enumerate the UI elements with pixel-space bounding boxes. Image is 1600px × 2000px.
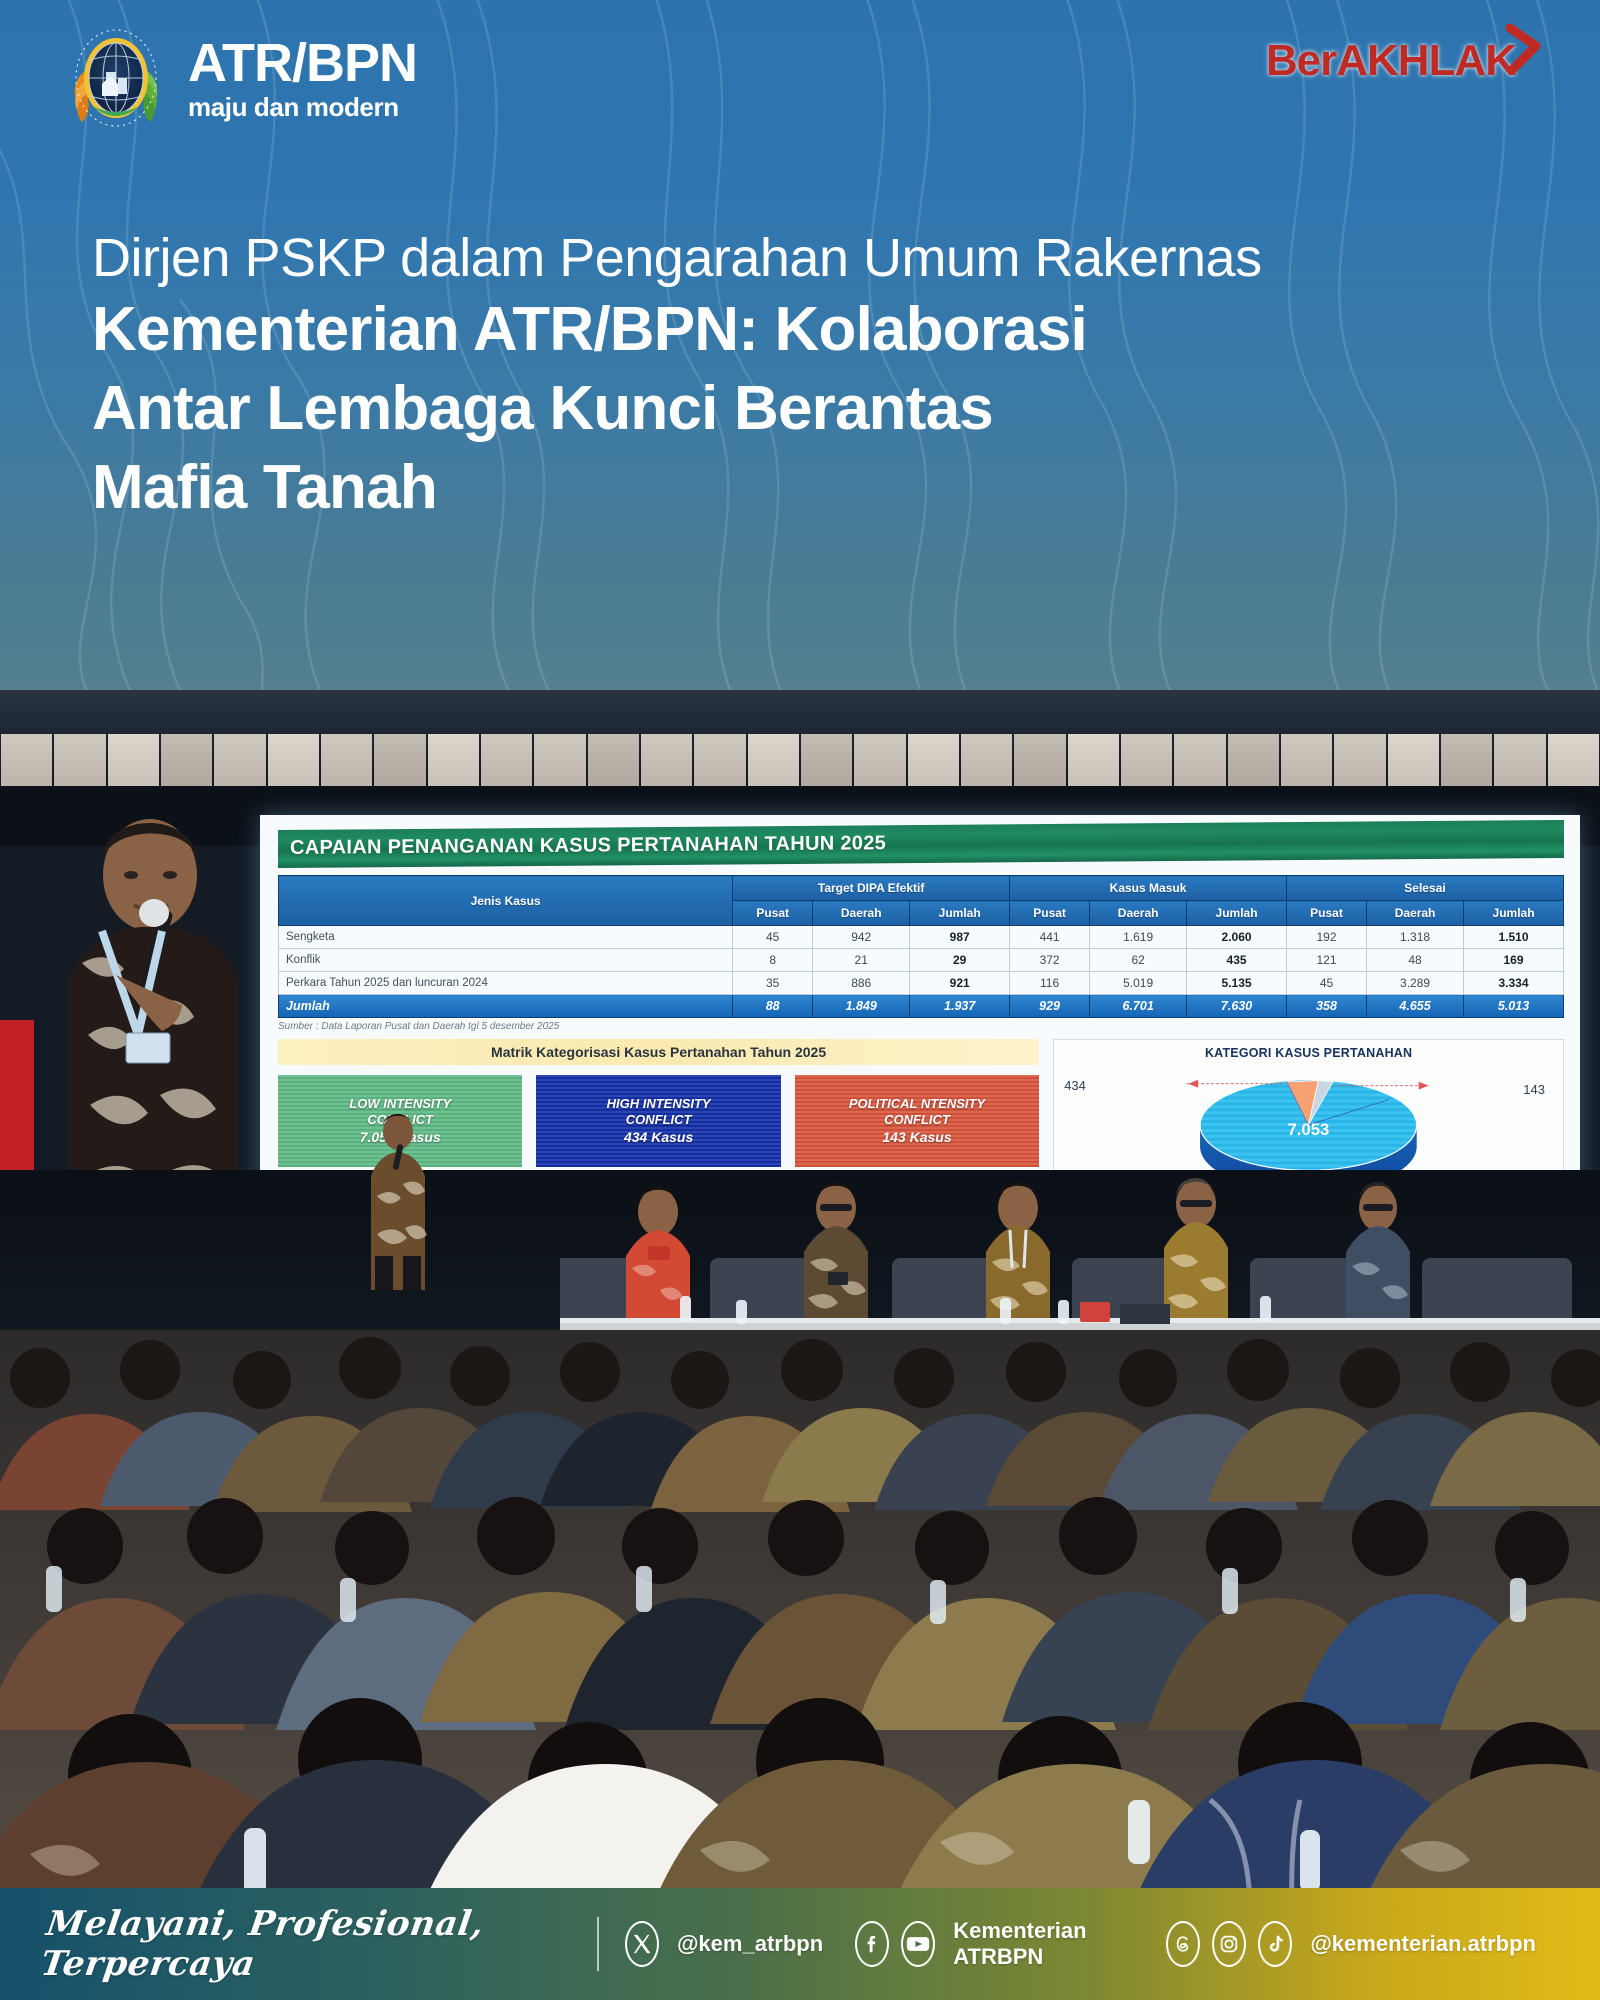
total-cell: 4.655 [1367,995,1464,1018]
footer-tagline: Melayani, Profesional, Terpercaya [38,1904,577,1984]
instagram-tiktok-handle[interactable]: @kementerian.atrbpn [1310,1931,1536,1957]
row-label: Perkara Tahun 2025 dan luncuran 2024 [279,972,733,995]
sub-h-6: Pusat [1286,901,1366,926]
headline-line-2: Antar Lembaga Kunci Berantas [92,373,1492,446]
footer-divider [597,1917,599,1971]
col-jenis-kasus: Jenis Kasus [279,876,733,926]
youtube-handle[interactable]: Kementerian ATRBPN [953,1918,1134,1970]
facebook-icon[interactable] [855,1921,889,1967]
box-line-1: POLITICAL NTENSITY [849,1096,985,1112]
headline-line-3: Mafia Tanah [92,452,1492,525]
cell: 121 [1286,949,1366,972]
row-label: Sengketa [279,926,733,949]
threads-icon[interactable] [1166,1921,1200,1967]
header-banner: ATR/BPN maju dan modern BerAKHLAK Dirjen… [0,0,1600,692]
sub-h-0: Pusat [733,901,813,926]
total-cell: 5.013 [1464,995,1564,1018]
slide-banner-title: CAPAIAN PENANGANAN KASUS PERTANAHAN TAHU… [278,820,1564,868]
audience-crowd [0,1330,1600,1912]
tiktok-icon[interactable] [1258,1921,1292,1967]
table-row: Perkara Tahun 2025 dan luncuran 2024 35 … [279,972,1564,995]
total-cell: 1.937 [910,995,1010,1018]
presentation-slide: CAPAIAN PENANGANAN KASUS PERTANAHAN TAHU… [260,815,1580,1195]
table-total-row: Jumlah 88 1.849 1.937 929 6.701 7.630 35… [279,995,1564,1018]
x-twitter-icon[interactable] [625,1921,659,1967]
x-handle[interactable]: @kem_atrbpn [677,1931,823,1957]
cell: 21 [813,949,910,972]
cell: 29 [910,949,1010,972]
cell: 435 [1187,949,1287,972]
cell: 987 [910,926,1010,949]
wall-panels [0,734,1600,786]
cell: 3.289 [1367,972,1464,995]
cell: 1.318 [1367,926,1464,949]
logo-subtitle: maju dan modern [188,94,417,120]
footer-bar: Melayani, Profesional, Terpercaya @kem_a… [0,1888,1600,2000]
total-cell: 1.849 [813,995,910,1018]
cell: 5.135 [1187,972,1287,995]
instagram-icon[interactable] [1212,1921,1246,1967]
total-label: Jumlah [279,995,733,1018]
cell: 35 [733,972,813,995]
table-row: Konflik 8 21 29 372 62 435 121 48 169 [279,949,1564,972]
total-cell: 358 [1286,995,1366,1018]
headline-line-1: Kementerian ATR/BPN: Kolaborasi [92,294,1492,367]
total-cell: 88 [733,995,813,1018]
headline-block: Dirjen PSKP dalam Pengarahan Umum Rakern… [92,228,1492,524]
youtube-icon[interactable] [901,1921,935,1967]
projection-screen: CAPAIAN PENANGANAN KASUS PERTANAHAN TAHU… [260,815,1580,1195]
poster-root: ATR/BPN maju dan modern BerAKHLAK Dirjen… [0,0,1600,2000]
pie-chart-title: KATEGORI KASUS PERTANAHAN [1058,1046,1559,1060]
sub-h-7: Daerah [1367,901,1464,926]
table-group-header-row: Jenis Kasus Target DIPA Efektif Kasus Ma… [279,876,1564,901]
cell: 1.510 [1464,926,1564,949]
cell: 48 [1367,949,1464,972]
social-accounts: @kem_atrbpn Kementerian ATRBPN [625,1918,1556,1970]
cell: 5.019 [1090,972,1187,995]
headline-kicker: Dirjen PSKP dalam Pengarahan Umum Rakern… [92,228,1492,288]
cell: 8 [733,949,813,972]
cell: 921 [910,972,1010,995]
table-row: Sengketa 45 942 987 441 1.619 2.060 192 … [279,926,1564,949]
col-selesai: Selesai [1286,876,1563,901]
cell: 45 [733,926,813,949]
standing-presenter [355,1110,441,1290]
cell: 169 [1464,949,1564,972]
cell: 441 [1010,926,1090,949]
cell: 372 [1010,949,1090,972]
box-line-1: HIGH INTENSITY [607,1096,711,1112]
total-cell: 929 [1010,995,1090,1018]
berakhlak-wordmark: BerAKHLAK [1266,36,1516,86]
matrix-title: Matrik Kategorisasi Kasus Pertanahan Tah… [278,1039,1039,1065]
box-line-2: CONFLICT [626,1112,692,1128]
logo-title: ATR/BPN [188,36,417,90]
event-photograph: CAPAIAN PENANGANAN KASUS PERTANAHAN TAHU… [0,690,1600,1912]
sub-h-3: Pusat [1010,901,1090,926]
cell: 45 [1286,972,1366,995]
cell: 192 [1286,926,1366,949]
berakhlak-arrow-icon [1502,22,1552,81]
total-cell: 7.630 [1187,995,1287,1018]
atrbpn-logo: ATR/BPN maju dan modern [62,24,417,132]
sub-h-2: Jumlah [910,901,1010,926]
cell: 1.619 [1090,926,1187,949]
sub-h-1: Daerah [813,901,910,926]
sub-h-5: Jumlah [1187,901,1287,926]
projected-speaker-figure [30,805,280,1225]
source-note: Sumber : Data Laporan Pusat dan Daerah t… [278,1021,1564,1032]
box-value: 143 Kasus [882,1129,951,1147]
pie-callout-high: 434 [1064,1078,1086,1093]
pie-callout-political: 143 [1523,1082,1545,1097]
col-target-dipa: Target DIPA Efektif [733,876,1010,901]
box-line-2: CONFLICT [884,1112,950,1128]
sub-h-8: Jumlah [1464,901,1564,926]
total-cell: 6.701 [1090,995,1187,1018]
cell: 886 [813,972,910,995]
sub-h-4: Daerah [1090,901,1187,926]
cell: 942 [813,926,910,949]
box-value: 434 Kasus [624,1129,693,1147]
cell: 2.060 [1187,926,1287,949]
cell: 116 [1010,972,1090,995]
case-handling-table: Jenis Kasus Target DIPA Efektif Kasus Ma… [278,875,1564,1018]
row-label: Konflik [279,949,733,972]
berakhlak-logo: BerAKHLAK [1266,36,1552,86]
pie-center-value: 7.053 [1288,1120,1330,1139]
col-kasus-masuk: Kasus Masuk [1010,876,1287,901]
cell: 3.334 [1464,972,1564,995]
globe-padi-logo-icon [62,24,170,132]
cell: 62 [1090,949,1187,972]
